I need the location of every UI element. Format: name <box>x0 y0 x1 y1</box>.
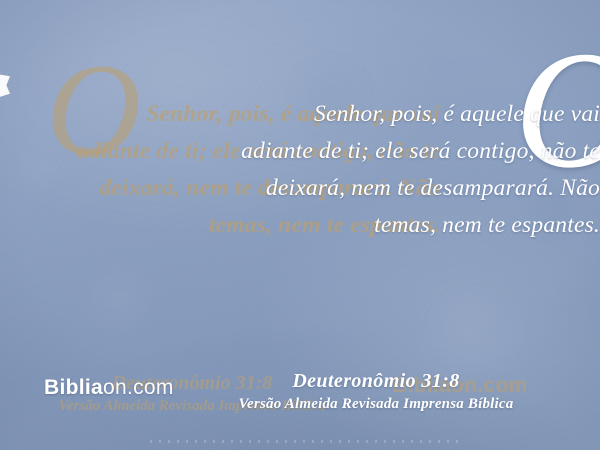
verse-line: deixará, nem te desamparará. Não <box>40 170 600 207</box>
bottom-dotted-seam <box>150 440 460 443</box>
brand-name-light: on.com <box>103 376 174 399</box>
verse-line: temas, nem te espantes. <box>40 207 600 244</box>
brand-name-strong: Biblia <box>44 376 103 399</box>
brand-logo[interactable]: Bibliaon.com <box>44 376 174 400</box>
verse-text: Senhor, pois, é aquele que vai adiante d… <box>40 96 600 244</box>
verse-line: Senhor, pois, é aquele que vai <box>40 96 600 133</box>
footer: Bibliaon.com Deuteronômio 31:8 Versão Al… <box>0 370 600 428</box>
verse-line: adiante de ti; ele será contigo, não te <box>40 133 600 170</box>
verse-image: O Senhor, pois, é aquele que vai adiante… <box>0 0 600 450</box>
verse-reference: Deuteronômio 31:8 <box>176 370 576 393</box>
reference-block: Deuteronômio 31:8 Versão Almeida Revisad… <box>176 370 576 413</box>
bible-version: Versão Almeida Revisada Imprensa Bíblica <box>176 396 576 413</box>
